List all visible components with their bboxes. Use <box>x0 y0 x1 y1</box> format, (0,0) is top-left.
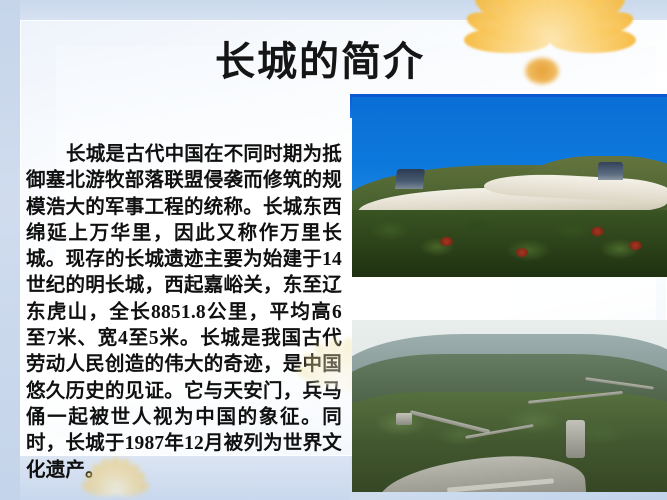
presentation-slide: 长城的简介 长城是古代中国在不同时期为抵御塞北游牧部落联盟侵袭而修筑的规模浩大的… <box>0 0 667 500</box>
slide-top-edge <box>0 0 667 20</box>
photo1-watchtower-right <box>598 162 623 180</box>
photo2-watchtower-left <box>396 413 412 425</box>
body-paragraph: 长城是古代中国在不同时期为抵御塞北游牧部落联盟侵袭而修筑的规模浩大的军事工程的统… <box>26 142 342 484</box>
photo1-vegetation <box>352 210 667 277</box>
image-great-wall-winding-through-mountains <box>352 320 667 492</box>
page-title: 长城的简介 <box>150 26 490 90</box>
photo1-watchtower-left <box>395 169 425 189</box>
image-great-wall-on-green-hillside <box>352 97 667 277</box>
photo1-red-foliage-4 <box>629 241 642 250</box>
photo2-watchtower-right <box>566 420 585 458</box>
slide-left-edge <box>0 0 20 500</box>
photo1-red-foliage-3 <box>591 227 604 236</box>
